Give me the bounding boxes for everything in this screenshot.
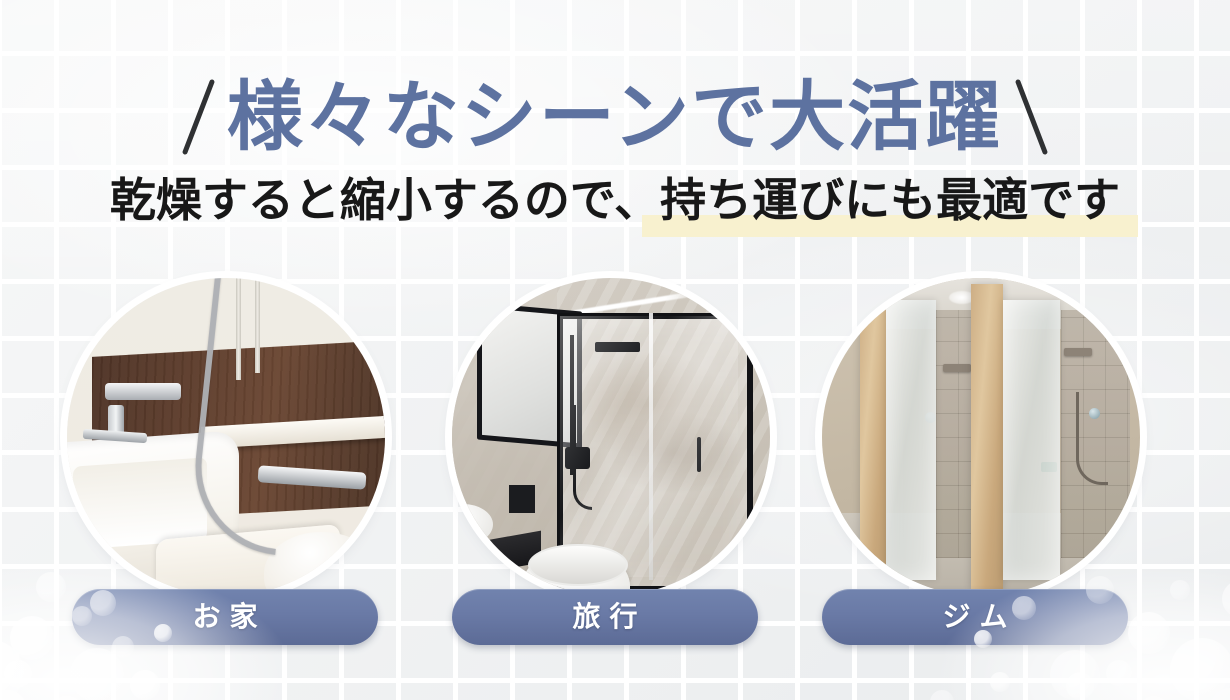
hotel-bathroom-image — [452, 278, 770, 596]
subheadline-text: 乾燥すると縮小するので、持ち運びにも最適です — [110, 173, 1120, 227]
scene-button-travel-label: 旅行 — [563, 603, 646, 631]
page-title: 様々なシーンで大活躍 — [227, 79, 1003, 155]
gym-shower-image — [822, 278, 1140, 596]
scene-button-gym[interactable]: ジム — [822, 589, 1128, 645]
scene-photo-home[interactable] — [67, 278, 385, 596]
scene-photo-travel[interactable] — [452, 278, 770, 596]
scene-button-home-label: お家 — [183, 603, 266, 631]
slash-left-icon — [182, 79, 215, 155]
subheadline-row: 乾燥すると縮小するので、持ち運びにも最適です — [0, 168, 1230, 232]
scene-button-gym-label: ジム — [933, 603, 1016, 631]
scene-label-row: お家 旅行 ジム — [0, 589, 1230, 647]
scene-photo-row — [0, 278, 1230, 600]
scene-photo-gym[interactable] — [822, 278, 1140, 596]
home-bathroom-image — [67, 278, 385, 596]
scene-button-home[interactable]: お家 — [72, 589, 378, 645]
promo-banner: 様々なシーンで大活躍 乾燥すると縮小するので、持ち運びにも最適です — [0, 0, 1230, 700]
scene-button-travel[interactable]: 旅行 — [452, 589, 758, 645]
headline-row: 様々なシーンで大活躍 — [0, 62, 1230, 172]
subheadline: 乾燥すると縮小するので、持ち運びにも最適です — [110, 177, 1120, 223]
slash-right-icon — [1015, 79, 1048, 155]
